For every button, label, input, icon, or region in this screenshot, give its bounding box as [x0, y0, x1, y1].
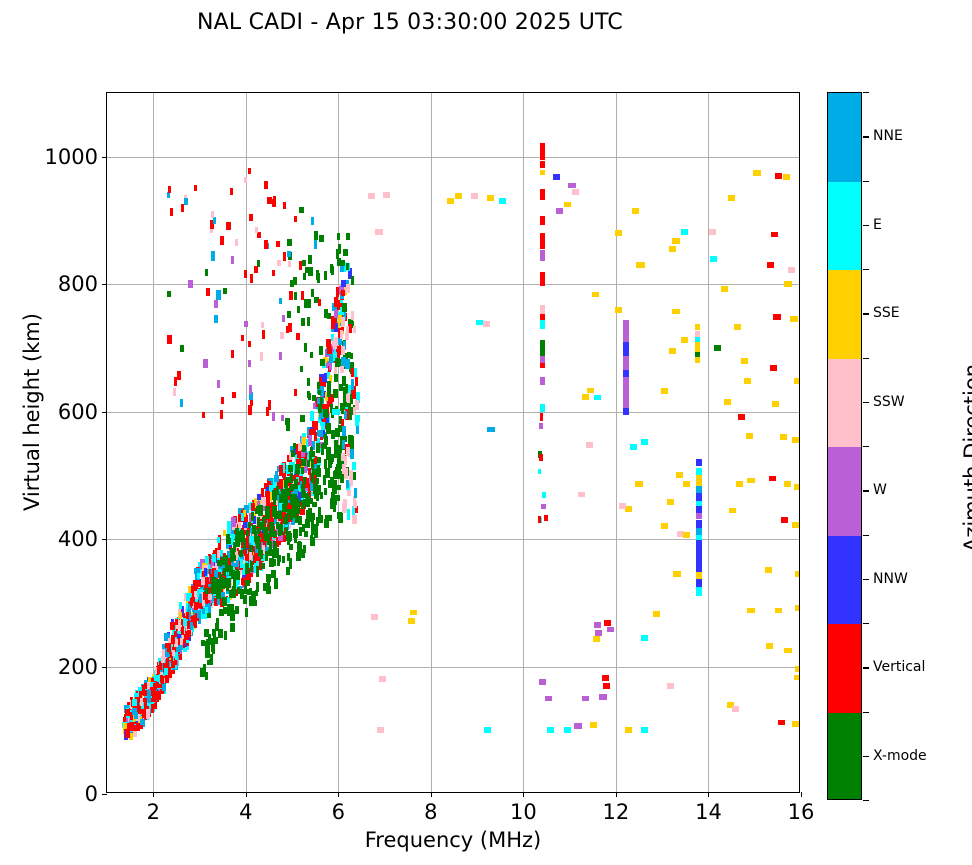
- echo-mark: [351, 311, 355, 321]
- echo-mark: [285, 494, 288, 505]
- echo-mark: [283, 252, 287, 261]
- echo-mark: [594, 622, 601, 628]
- echo-mark: [343, 249, 348, 256]
- echo-mark: [327, 389, 331, 397]
- echo-mark: [291, 450, 295, 456]
- echo-mark: [279, 465, 283, 476]
- echo-mark: [696, 528, 702, 536]
- echo-mark: [310, 352, 314, 358]
- echo-mark: [781, 517, 788, 523]
- echo-mark: [297, 551, 302, 558]
- echo-mark: [341, 317, 345, 327]
- gridline-vertical: [246, 93, 247, 792]
- echo-mark: [205, 649, 210, 658]
- echo-mark: [340, 330, 343, 338]
- echo-mark: [604, 620, 611, 626]
- echo-mark: [244, 586, 247, 594]
- echo-mark: [133, 731, 137, 737]
- echo-mark: [344, 411, 347, 419]
- echo-mark: [256, 536, 260, 543]
- echo-mark: [297, 451, 300, 458]
- echo-mark: [250, 561, 253, 572]
- echo-mark: [294, 216, 297, 222]
- echo-mark: [332, 484, 336, 492]
- echo-mark: [538, 469, 542, 474]
- echo-mark: [279, 298, 282, 304]
- echo-mark: [301, 451, 306, 457]
- echo-mark: [289, 544, 293, 551]
- echo-mark: [770, 365, 777, 371]
- echo-mark: [346, 326, 349, 333]
- echo-mark: [635, 481, 642, 487]
- echo-mark: [301, 549, 305, 558]
- y-tick-label: 200: [58, 655, 98, 679]
- echo-mark: [230, 623, 235, 632]
- echo-mark: [175, 652, 178, 660]
- echo-mark: [771, 232, 778, 238]
- echo-mark: [734, 324, 741, 330]
- colorbar-label-w: W: [873, 482, 887, 498]
- x-axis-title: Frequency (MHz): [106, 828, 800, 852]
- echo-mark: [346, 480, 350, 488]
- colorbar-boundary-tick: [863, 712, 869, 713]
- echo-mark: [318, 390, 321, 396]
- echo-mark: [564, 202, 571, 208]
- echo-mark: [696, 459, 702, 467]
- echo-mark: [321, 421, 325, 430]
- echo-mark: [476, 320, 483, 326]
- echo-mark: [206, 288, 209, 296]
- echo-mark: [346, 447, 350, 456]
- echo-mark: [200, 668, 205, 676]
- echo-mark: [168, 186, 171, 193]
- echo-mark: [212, 554, 216, 562]
- echo-mark: [170, 622, 175, 631]
- echo-mark: [214, 315, 218, 322]
- echo-mark: [765, 567, 772, 573]
- echo-mark: [540, 340, 545, 357]
- echo-mark: [487, 427, 494, 433]
- echo-mark: [595, 630, 602, 636]
- echo-mark: [240, 559, 243, 568]
- echo-mark: [314, 231, 318, 240]
- echo-mark: [304, 343, 307, 352]
- echo-mark: [336, 464, 339, 472]
- echo-mark: [283, 494, 286, 505]
- echo-mark: [683, 481, 690, 487]
- echo-mark: [572, 189, 579, 195]
- echo-mark: [784, 648, 791, 654]
- y-tick-label: 800: [58, 272, 98, 296]
- echo-mark: [317, 457, 320, 463]
- gridline-horizontal: [107, 539, 799, 540]
- echo-mark: [265, 506, 270, 515]
- echo-mark: [696, 493, 702, 501]
- echo-mark: [316, 443, 320, 453]
- echo-mark: [217, 580, 222, 591]
- x-tick-label: 14: [695, 800, 722, 824]
- echo-mark: [174, 377, 177, 386]
- echo-mark: [347, 393, 350, 403]
- echo-mark: [211, 211, 215, 218]
- echo-mark: [265, 551, 268, 561]
- echo-mark: [636, 262, 643, 268]
- ionogram-figure: NAL CADI - Apr 15 03:30:00 2025 UTC 2468…: [0, 0, 972, 865]
- echo-mark: [327, 381, 331, 390]
- echo-mark: [326, 423, 331, 433]
- echo-mark: [179, 602, 183, 609]
- echo-mark: [351, 276, 354, 286]
- echo-mark: [784, 281, 791, 287]
- echo-mark: [199, 594, 202, 603]
- echo-mark: [574, 723, 581, 729]
- echo-mark: [683, 532, 690, 538]
- echo-mark: [346, 233, 351, 241]
- echo-mark: [230, 188, 233, 196]
- echo-mark: [260, 352, 264, 361]
- echo-mark: [179, 612, 182, 620]
- echo-mark: [244, 321, 247, 327]
- echo-mark: [553, 174, 560, 180]
- plot-axes: 246810121416 02004006008001000: [106, 92, 800, 793]
- echo-mark: [564, 727, 571, 733]
- colorbar-segment-x-mode: [828, 713, 861, 801]
- echo-mark: [540, 170, 545, 175]
- echo-mark: [788, 267, 795, 273]
- echo-mark: [310, 535, 313, 541]
- echo-mark: [775, 173, 782, 179]
- echo-mark: [164, 668, 168, 675]
- echo-mark: [140, 719, 144, 726]
- echo-mark: [267, 197, 272, 204]
- echo-mark: [295, 464, 300, 474]
- echo-mark: [171, 635, 175, 644]
- echo-mark: [301, 484, 305, 493]
- echo-mark: [304, 299, 308, 308]
- colorbar-boundary-tick: [863, 446, 869, 447]
- echo-mark: [623, 376, 628, 384]
- echo-mark: [217, 560, 222, 566]
- x-tick-label: 6: [332, 800, 345, 824]
- echo-mark: [277, 511, 281, 519]
- echo-mark: [282, 556, 286, 563]
- echo-mark: [241, 335, 244, 342]
- gridline-vertical: [708, 93, 709, 792]
- echo-mark: [455, 193, 462, 199]
- echo-mark: [792, 437, 799, 443]
- echo-mark: [280, 332, 284, 339]
- echo-mark: [327, 313, 331, 319]
- echo-mark: [341, 260, 346, 267]
- echo-mark: [125, 709, 130, 716]
- echo-mark: [319, 235, 324, 242]
- echo-mark: [246, 530, 249, 536]
- echo-mark: [539, 679, 546, 685]
- x-tick-mark: [338, 792, 339, 797]
- echo-mark: [203, 359, 207, 368]
- echo-mark: [347, 490, 351, 496]
- echo-mark: [261, 322, 264, 328]
- echo-mark: [540, 216, 545, 225]
- echo-mark: [326, 339, 330, 347]
- echo-mark: [313, 524, 318, 534]
- colorbar-boundary-tick: [863, 92, 869, 93]
- echo-mark: [264, 181, 268, 189]
- echo-mark: [217, 599, 220, 605]
- echo-mark: [299, 527, 302, 536]
- echo-mark: [152, 689, 156, 695]
- echo-mark: [161, 676, 164, 684]
- echo-mark: [167, 643, 171, 652]
- colorbar-label-vertical: Vertical: [873, 659, 925, 675]
- echo-mark: [334, 310, 337, 318]
- echo-mark: [243, 540, 246, 550]
- echo-mark: [538, 516, 541, 524]
- echo-mark: [351, 368, 354, 376]
- echo-mark: [297, 306, 300, 313]
- echo-mark: [301, 291, 304, 300]
- echo-mark: [272, 270, 275, 277]
- echo-mark: [641, 727, 648, 733]
- echo-mark: [728, 195, 735, 201]
- echo-mark: [248, 341, 251, 348]
- echo-mark: [795, 605, 799, 611]
- y-tick-label: 600: [58, 400, 98, 424]
- echo-mark: [209, 659, 213, 665]
- x-tick-mark: [523, 792, 524, 797]
- echo-mark: [197, 610, 201, 618]
- echo-mark: [307, 378, 310, 386]
- echo-mark: [156, 682, 159, 688]
- echo-mark: [623, 408, 628, 416]
- echo-mark: [592, 292, 599, 298]
- echo-mark: [300, 415, 304, 422]
- echo-mark: [294, 479, 297, 488]
- echo-mark: [283, 202, 286, 209]
- echo-mark: [714, 345, 721, 351]
- echo-mark: [257, 494, 262, 501]
- echo-mark: [293, 277, 297, 285]
- echo-mark: [286, 567, 290, 576]
- echo-mark: [345, 359, 350, 369]
- echo-mark: [223, 288, 226, 294]
- colorbar-tick: [863, 756, 869, 757]
- echo-mark: [351, 379, 354, 390]
- echo-mark: [183, 618, 186, 625]
- echo-mark: [193, 618, 197, 627]
- echo-mark: [181, 204, 184, 212]
- echo-mark: [615, 230, 622, 236]
- echo-mark: [293, 443, 296, 449]
- echo-mark: [355, 377, 358, 386]
- echo-mark: [753, 170, 760, 176]
- echo-mark: [487, 195, 494, 201]
- echo-mark: [471, 193, 478, 199]
- echo-mark: [205, 672, 208, 680]
- x-tick-label: 12: [603, 800, 630, 824]
- echo-mark: [282, 315, 285, 322]
- echo-mark: [186, 612, 189, 619]
- echo-mark: [316, 517, 319, 526]
- echo-mark: [314, 432, 317, 442]
- echo-mark: [208, 634, 211, 642]
- colorbar-tick: [863, 136, 869, 137]
- echo-mark: [696, 587, 702, 596]
- echo-mark: [312, 395, 316, 401]
- echo-mark: [539, 423, 544, 429]
- echo-mark: [342, 440, 345, 449]
- echo-mark: [308, 393, 311, 400]
- echo-mark: [729, 508, 736, 514]
- echo-mark: [653, 611, 660, 617]
- echo-mark: [241, 513, 245, 521]
- echo-mark: [296, 333, 300, 340]
- echo-mark: [236, 569, 239, 576]
- colorbar-label-x-mode: X-mode: [873, 748, 927, 764]
- echo-mark: [233, 542, 236, 553]
- echo-mark: [623, 341, 628, 349]
- echo-mark: [248, 360, 251, 367]
- echo-mark: [599, 694, 606, 700]
- echo-mark: [619, 503, 626, 509]
- gridline-horizontal: [107, 157, 799, 158]
- echo-mark: [245, 563, 249, 574]
- x-tick-mark: [153, 792, 154, 797]
- echo-mark: [556, 208, 563, 214]
- echo-mark: [156, 691, 160, 700]
- x-tick-label: 16: [788, 800, 815, 824]
- echo-mark: [732, 706, 739, 712]
- echo-mark: [602, 675, 609, 681]
- colorbar-boundary-tick: [863, 358, 869, 359]
- echo-mark: [696, 475, 702, 485]
- echo-mark: [220, 550, 223, 556]
- echo-mark: [325, 468, 330, 478]
- echo-mark: [204, 568, 207, 576]
- colorbar: [827, 92, 862, 800]
- echo-mark: [301, 467, 304, 473]
- echo-mark: [795, 571, 799, 577]
- echo-mark: [208, 594, 211, 600]
- echo-mark: [375, 229, 382, 235]
- colorbar-boundary-tick: [863, 535, 869, 536]
- echo-mark: [308, 435, 313, 446]
- echo-mark: [294, 389, 297, 396]
- echo-mark: [582, 696, 589, 702]
- echo-mark: [231, 256, 235, 264]
- echo-mark: [190, 598, 193, 605]
- echo-mark: [383, 192, 390, 198]
- echo-mark: [308, 255, 313, 264]
- echo-mark: [248, 168, 252, 175]
- echo-mark: [294, 292, 297, 300]
- echo-mark: [792, 522, 799, 528]
- echo-mark: [162, 683, 166, 691]
- echo-mark: [673, 571, 680, 577]
- echo-mark: [233, 577, 237, 587]
- echo-mark: [332, 409, 339, 415]
- colorbar-tick: [863, 313, 869, 314]
- echo-mark: [344, 456, 348, 465]
- echo-mark: [316, 468, 321, 477]
- echo-mark: [342, 303, 347, 312]
- echo-mark: [540, 233, 545, 250]
- echo-mark: [615, 307, 622, 313]
- echo-mark: [784, 481, 791, 487]
- plot-area: [107, 93, 799, 792]
- echo-mark: [249, 214, 253, 221]
- echo-mark: [333, 389, 338, 397]
- echo-mark: [568, 183, 575, 189]
- echo-mark: [202, 412, 205, 419]
- colorbar-segment-vertical: [828, 624, 861, 713]
- echo-mark: [483, 321, 490, 327]
- echo-mark: [184, 634, 187, 640]
- echo-mark: [249, 385, 253, 394]
- echo-mark: [220, 236, 223, 245]
- x-tick-label: 4: [239, 800, 252, 824]
- echo-mark: [302, 437, 306, 445]
- echo-mark: [255, 590, 258, 596]
- colorbar-tick: [863, 490, 869, 491]
- echo-mark: [213, 635, 216, 644]
- echo-mark: [578, 492, 585, 498]
- x-tick-label: 2: [147, 800, 160, 824]
- colorbar-label-nne: NNE: [873, 128, 903, 144]
- echo-mark: [313, 484, 318, 494]
- echo-mark: [352, 462, 356, 469]
- echo-mark: [256, 566, 259, 576]
- echo-mark: [317, 430, 321, 436]
- echo-mark: [171, 661, 175, 668]
- echo-mark: [299, 207, 303, 213]
- echo-mark: [245, 608, 248, 616]
- echo-mark: [312, 469, 317, 475]
- colorbar-tick: [863, 667, 869, 668]
- echo-mark: [283, 517, 288, 524]
- echo-mark: [696, 513, 702, 519]
- echo-mark: [322, 443, 327, 449]
- echo-mark: [744, 378, 751, 384]
- y-axis-title: Virtual height (km): [20, 232, 44, 592]
- echo-mark: [286, 533, 290, 541]
- echo-mark: [356, 426, 359, 434]
- echo-mark: [540, 272, 545, 286]
- colorbar-boundary-tick: [863, 800, 869, 801]
- x-tick-label: 10: [510, 800, 537, 824]
- echo-mark: [345, 332, 349, 340]
- echo-mark: [623, 327, 628, 335]
- colorbar-segment-w: [828, 447, 861, 536]
- echo-mark: [258, 505, 263, 516]
- echo-mark: [331, 266, 335, 275]
- echo-mark: [772, 401, 779, 407]
- echo-mark: [227, 538, 230, 544]
- y-tick-mark: [102, 539, 107, 540]
- echo-mark: [287, 251, 291, 257]
- echo-mark: [216, 290, 221, 299]
- echo-mark: [219, 609, 223, 615]
- echo-mark: [235, 606, 240, 613]
- echo-mark: [540, 143, 545, 160]
- echo-mark: [232, 552, 235, 558]
- echo-mark: [277, 260, 281, 266]
- echo-mark: [311, 459, 314, 469]
- echo-mark: [623, 348, 628, 356]
- echo-mark: [201, 577, 205, 585]
- echo-mark: [211, 251, 215, 260]
- echo-mark: [377, 727, 384, 733]
